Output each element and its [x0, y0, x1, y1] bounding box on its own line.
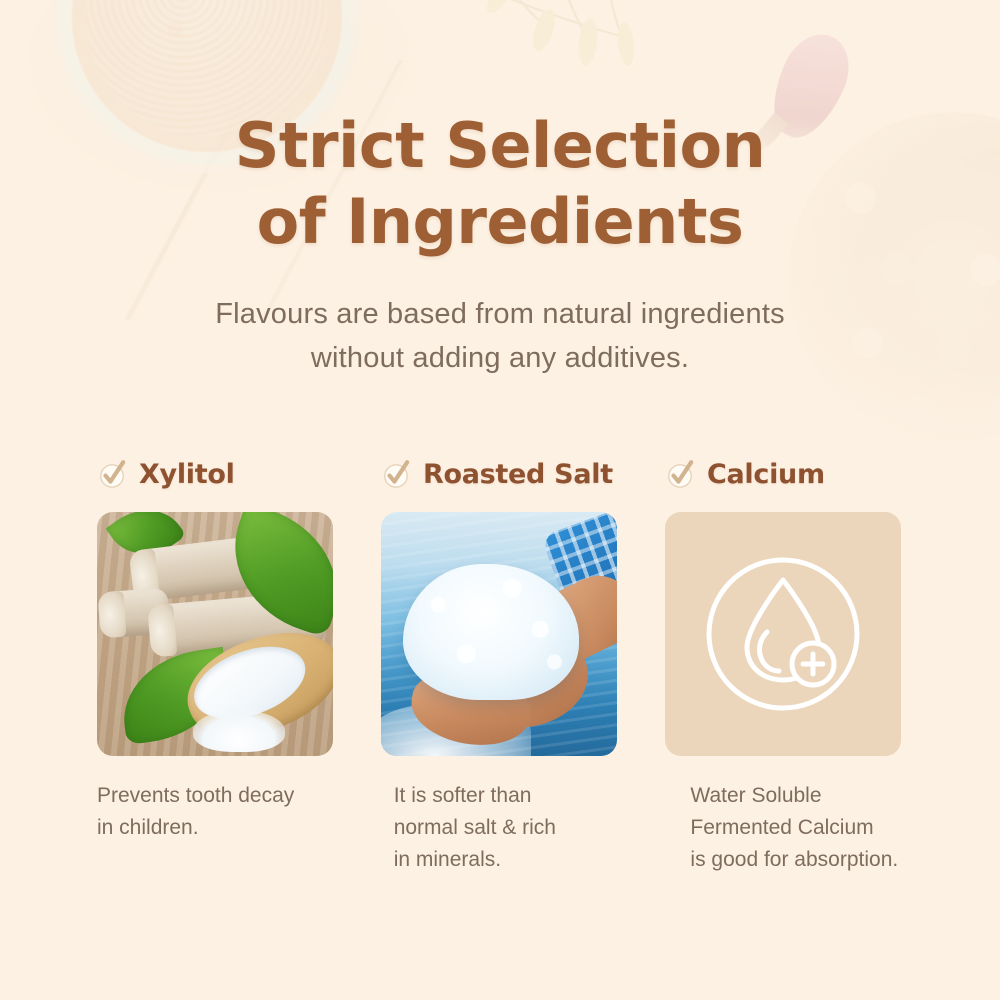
ingredient-card-calcium: Calcium [665, 452, 901, 756]
caption-line: in minerals. [394, 844, 643, 876]
card-header: Xylitol [97, 452, 333, 496]
check-circle-icon [665, 458, 697, 490]
caption-xylitol: Prevents tooth decay in children. [97, 780, 346, 876]
ingredient-image-calcium [665, 512, 901, 756]
water-droplet-plus-icon [699, 550, 867, 718]
card-title: Roasted Salt [423, 459, 613, 490]
caption-line: Prevents tooth decay [97, 780, 346, 812]
xylitol-crystal-pile [193, 710, 285, 752]
ingredient-card-xylitol: Xylitol [97, 452, 333, 756]
caption-line: is good for absorption. [690, 844, 957, 876]
caption-line: It is softer than [394, 780, 643, 812]
ingredient-image-xylitol [97, 512, 333, 756]
ingredient-card-list: Xylitol [97, 452, 903, 756]
page-title: Strict Selection of Ingredients [0, 108, 1000, 259]
check-circle-icon [97, 458, 129, 490]
caption-line: normal salt & rich [394, 812, 643, 844]
page-subtitle: Flavours are based from natural ingredie… [0, 292, 1000, 380]
caption-line: Water Soluble [690, 780, 957, 812]
caption-line: Fermented Calcium [690, 812, 957, 844]
check-circle-icon [381, 458, 413, 490]
ingredient-card-roasted-salt: Roasted Salt [381, 452, 617, 756]
page-subtitle-line-1: Flavours are based from natural ingredie… [215, 298, 785, 330]
card-header: Calcium [665, 452, 901, 496]
card-title: Calcium [707, 459, 825, 490]
page-subtitle-line-2: without adding any additives. [0, 336, 1000, 380]
caption-line: in children. [97, 812, 346, 844]
page-title-line-1: Strict Selection [235, 109, 765, 182]
caption-list: Prevents tooth decay in children. It is … [97, 780, 957, 876]
card-title: Xylitol [139, 459, 235, 490]
page-title-line-2: of Ingredients [0, 184, 1000, 260]
ingredient-image-roasted-salt [381, 512, 617, 756]
caption-calcium: Water Soluble Fermented Calcium is good … [690, 780, 957, 876]
card-header: Roasted Salt [381, 452, 617, 496]
ingredients-infographic: Strict Selection of Ingredients Flavours… [0, 0, 1000, 1000]
caption-roasted-salt: It is softer than normal salt & rich in … [394, 780, 643, 876]
